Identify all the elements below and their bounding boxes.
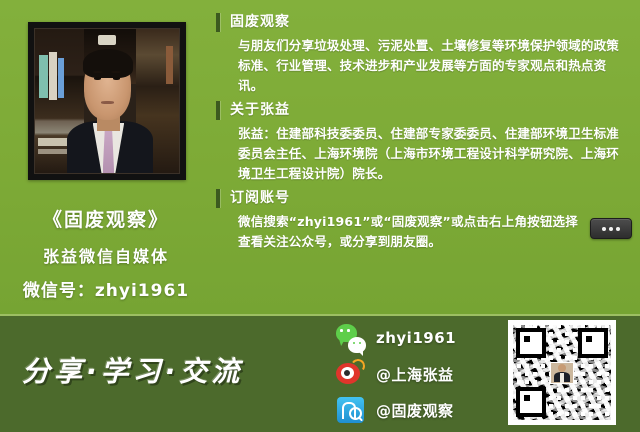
- section-about-author: 关于张益 张益：住建部科技委委员、住建部专家委委员、住建部环境卫生标准委员会主任…: [216, 100, 628, 184]
- social-row-weibo[interactable]: @上海张益: [336, 356, 506, 392]
- eyebrow: [111, 71, 121, 73]
- section-body: 微信搜索“zhyi1961”或“固废观察”或点击右上角按钮选择查看关注公众号，或…: [238, 212, 586, 252]
- left-column: 《固废观察》 张益微信自媒体 微信号：zhyi1961: [0, 0, 212, 316]
- section-heading: 订阅账号: [216, 188, 628, 208]
- qr-finder-pattern: [578, 328, 608, 358]
- heading-accent-bar: [216, 189, 220, 208]
- qr-code-container[interactable]: [508, 320, 616, 425]
- section-heading-label: 关于张益: [230, 102, 290, 118]
- dot-icon: [616, 227, 620, 231]
- social-label: @上海张益: [376, 364, 454, 385]
- portrait-photo: [34, 28, 180, 174]
- section-body: 与朋友们分享垃圾处理、污泥处置、土壤修复等环境保护领域的政策标准、行业管理、技术…: [238, 36, 628, 96]
- heading-accent-bar: [216, 101, 220, 120]
- dot-icon: [609, 227, 613, 231]
- book: [38, 149, 70, 155]
- eyebrow: [93, 71, 103, 73]
- lamp: [98, 35, 115, 45]
- wechat-qr-code: [513, 325, 611, 420]
- dot-icon: [602, 227, 606, 231]
- content-sections: 固废观察 与朋友们分享垃圾处理、污泥处置、土壤修复等环境保护领域的政策标准、行业…: [216, 12, 628, 256]
- book: [166, 46, 173, 83]
- portrait-frame: [28, 22, 186, 180]
- social-row-wechat[interactable]: zhyi1961: [336, 320, 506, 356]
- book: [58, 58, 64, 98]
- section-heading: 固废观察: [216, 12, 628, 32]
- promo-poster: 《固废观察》 张益微信自媒体 微信号：zhyi1961 固废观察 与朋友们分享垃…: [0, 0, 640, 432]
- section-body: 张益：住建部科技委委员、住建部专家委委员、住建部环境卫生标准委员会主任、上海环境…: [238, 124, 628, 184]
- qr-finder-pattern: [516, 387, 546, 417]
- section-heading-label: 固废观察: [230, 14, 290, 30]
- eye: [113, 77, 120, 80]
- more-options-button[interactable]: [590, 218, 632, 239]
- book: [39, 55, 48, 98]
- magazine-title: 《固废观察》: [0, 205, 212, 232]
- qr-finder-pattern: [516, 328, 546, 358]
- magazine-subtitle: 张益微信自媒体: [0, 243, 212, 267]
- qq-search-icon: [336, 395, 366, 425]
- social-accounts-list: zhyi1961 @上海张益 @固废观察: [336, 320, 506, 428]
- eye: [94, 77, 101, 80]
- section-heading-label: 订阅账号: [230, 190, 290, 206]
- social-label: zhyi1961: [376, 329, 456, 347]
- wechat-icon: [336, 323, 366, 353]
- section-subscribe: 订阅账号 微信搜索“zhyi1961”或“固废观察”或点击右上角按钮选择查看关注…: [216, 188, 628, 252]
- social-label: @固废观察: [376, 400, 454, 421]
- slogan: 分享·学习·交流: [22, 350, 243, 390]
- hair: [83, 49, 133, 78]
- book: [49, 52, 56, 100]
- social-row-qq[interactable]: @固废观察: [336, 392, 506, 428]
- wechat-id-line: 微信号：zhyi1961: [0, 276, 212, 301]
- weibo-icon: [336, 359, 366, 389]
- section-heading: 关于张益: [216, 100, 628, 120]
- section-about-account: 固废观察 与朋友们分享垃圾处理、污泥处置、土壤修复等环境保护领域的政策标准、行业…: [216, 12, 628, 96]
- qr-center-avatar: [550, 362, 574, 384]
- mouth: [101, 101, 114, 104]
- heading-accent-bar: [216, 13, 220, 32]
